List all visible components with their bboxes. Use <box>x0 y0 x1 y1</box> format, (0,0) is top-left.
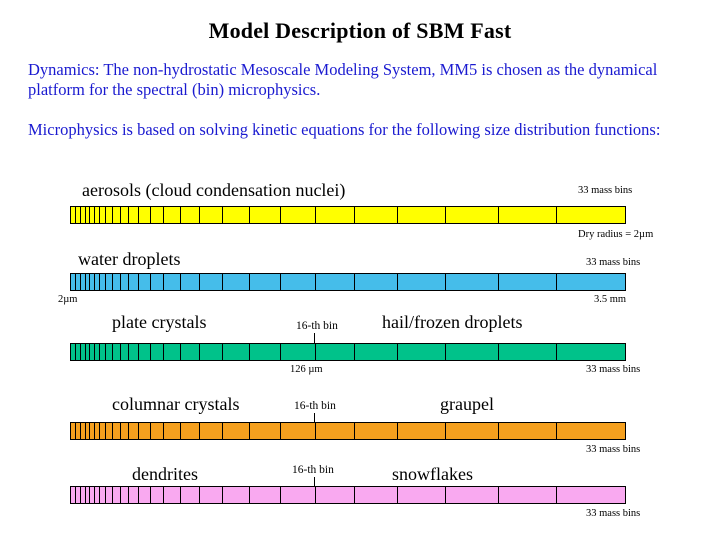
bar-segment <box>446 423 499 439</box>
bar-segment <box>113 207 121 223</box>
bar-segment <box>139 274 151 290</box>
bar-segment <box>106 207 113 223</box>
graupel-label: graupel <box>440 394 494 415</box>
bar-segment <box>446 344 499 360</box>
bar-segment <box>181 207 200 223</box>
bar-segment <box>200 423 223 439</box>
bar-segment <box>121 344 130 360</box>
dynamics-label: Dynamics <box>28 60 95 79</box>
columnar-crystals-bar <box>70 422 626 440</box>
plate-crystals-bin-marker: 16-th bin <box>296 320 338 332</box>
bar-segment <box>113 487 121 503</box>
bar-segment <box>557 344 625 360</box>
bar-segment <box>139 207 151 223</box>
bar-segment <box>200 207 223 223</box>
dynamics-paragraph: Dynamics: The non-hydrostatic Mesoscale … <box>28 60 692 100</box>
bar-segment <box>129 274 139 290</box>
dendrites-bar <box>70 486 626 504</box>
bar-segment <box>151 207 165 223</box>
bar-segment <box>398 344 446 360</box>
plate-crystals-bar <box>70 343 626 361</box>
bar-segment <box>316 274 355 290</box>
bar-segment <box>316 423 355 439</box>
bar-segment <box>499 207 557 223</box>
bar-segment <box>181 487 200 503</box>
water-droplets-label: water droplets <box>78 249 180 270</box>
bar-segment <box>129 344 139 360</box>
bar-segment <box>181 274 200 290</box>
dendrites-mass-bins-note: 33 mass bins <box>586 508 640 519</box>
bar-segment <box>316 207 355 223</box>
bar-segment <box>557 423 625 439</box>
microphysics-paragraph: Microphysics is based on solving kinetic… <box>28 120 692 140</box>
bar-segment <box>113 274 121 290</box>
bar-segment <box>355 207 398 223</box>
bar-segment <box>446 207 499 223</box>
bar-segment <box>557 207 625 223</box>
bar-segment <box>200 344 223 360</box>
bar-segment <box>223 207 250 223</box>
bar-segment <box>164 344 180 360</box>
bar-segment <box>499 274 557 290</box>
bar-segment <box>121 274 130 290</box>
bar-segment <box>121 207 130 223</box>
plate-crystals-size-note: 126 µm <box>290 364 323 375</box>
bar-segment <box>499 344 557 360</box>
bar-segment <box>113 344 121 360</box>
bar-segment <box>223 423 250 439</box>
bar-segment <box>223 344 250 360</box>
bar-segment <box>106 487 113 503</box>
aerosols-mass-bins-note: 33 mass bins <box>578 185 632 196</box>
bar-segment <box>164 423 180 439</box>
aerosols-dry-radius-note: Dry radius = 2µm <box>578 229 653 240</box>
bar-segment <box>129 487 139 503</box>
page-title: Model Description of SBM Fast <box>0 18 720 44</box>
bar-segment <box>200 274 223 290</box>
bar-segment <box>398 274 446 290</box>
bar-segment <box>250 344 281 360</box>
water-droplets-mass-bins-note: 33 mass bins <box>586 257 640 268</box>
water-droplets-left-note: 2µm <box>58 294 77 305</box>
bar-segment <box>181 423 200 439</box>
bar-segment <box>281 274 316 290</box>
bar-segment <box>106 274 113 290</box>
bar-segment <box>355 344 398 360</box>
bar-segment <box>355 274 398 290</box>
bar-segment <box>200 487 223 503</box>
snowflakes-label: snowflakes <box>392 464 473 485</box>
water-droplets-right-note: 3.5 mm <box>594 294 626 305</box>
aerosols-label: aerosols (cloud condensation nuclei) <box>82 180 345 201</box>
plate-crystals-mass-bins-note: 33 mass bins <box>586 364 640 375</box>
bar-segment <box>121 423 130 439</box>
columnar-crystals-mass-bins-note: 33 mass bins <box>586 444 640 455</box>
dynamics-text: : The non-hydrostatic Mesoscale Modeling… <box>28 60 657 99</box>
bar-segment <box>355 487 398 503</box>
bar-segment <box>139 423 151 439</box>
bar-segment <box>151 274 165 290</box>
bar-segment <box>499 487 557 503</box>
bar-segment <box>223 487 250 503</box>
bar-segment <box>139 487 151 503</box>
hail-frozen-droplets-label: hail/frozen droplets <box>382 312 522 333</box>
bar-segment <box>316 487 355 503</box>
bar-segment <box>499 423 557 439</box>
bar-segment <box>281 487 316 503</box>
bar-segment <box>164 487 180 503</box>
bar-segment <box>281 344 316 360</box>
bar-segment <box>250 423 281 439</box>
bar-segment <box>223 274 250 290</box>
bar-segment <box>446 487 499 503</box>
bar-segment <box>250 487 281 503</box>
bar-segment <box>557 487 625 503</box>
bar-segment <box>316 344 355 360</box>
dendrites-label: dendrites <box>132 464 198 485</box>
bar-segment <box>398 487 446 503</box>
aerosols-bar <box>70 206 626 224</box>
slide: Model Description of SBM Fast Dynamics: … <box>0 0 720 540</box>
bar-segment <box>398 207 446 223</box>
bar-segment <box>129 207 139 223</box>
bar-segment <box>446 274 499 290</box>
water-droplets-bar <box>70 273 626 291</box>
bar-segment <box>129 423 139 439</box>
columnar-crystals-bin-marker: 16-th bin <box>294 400 336 412</box>
bar-segment <box>164 207 180 223</box>
bar-segment <box>106 344 113 360</box>
bar-segment <box>181 344 200 360</box>
bar-segment <box>113 423 121 439</box>
plate-crystals-label: plate crystals <box>112 312 206 333</box>
bar-segment <box>164 274 180 290</box>
bar-segment <box>250 207 281 223</box>
bar-segment <box>557 274 625 290</box>
bar-segment <box>151 344 165 360</box>
bar-segment <box>281 423 316 439</box>
bar-segment <box>398 423 446 439</box>
bar-segment <box>250 274 281 290</box>
bar-segment <box>151 487 165 503</box>
bar-segment <box>139 344 151 360</box>
columnar-crystals-label: columnar crystals <box>112 394 239 415</box>
bar-segment <box>281 207 316 223</box>
bar-segment <box>121 487 130 503</box>
bar-segment <box>355 423 398 439</box>
dendrites-bin-marker: 16-th bin <box>292 464 334 476</box>
bar-segment <box>106 423 113 439</box>
bar-segment <box>151 423 165 439</box>
